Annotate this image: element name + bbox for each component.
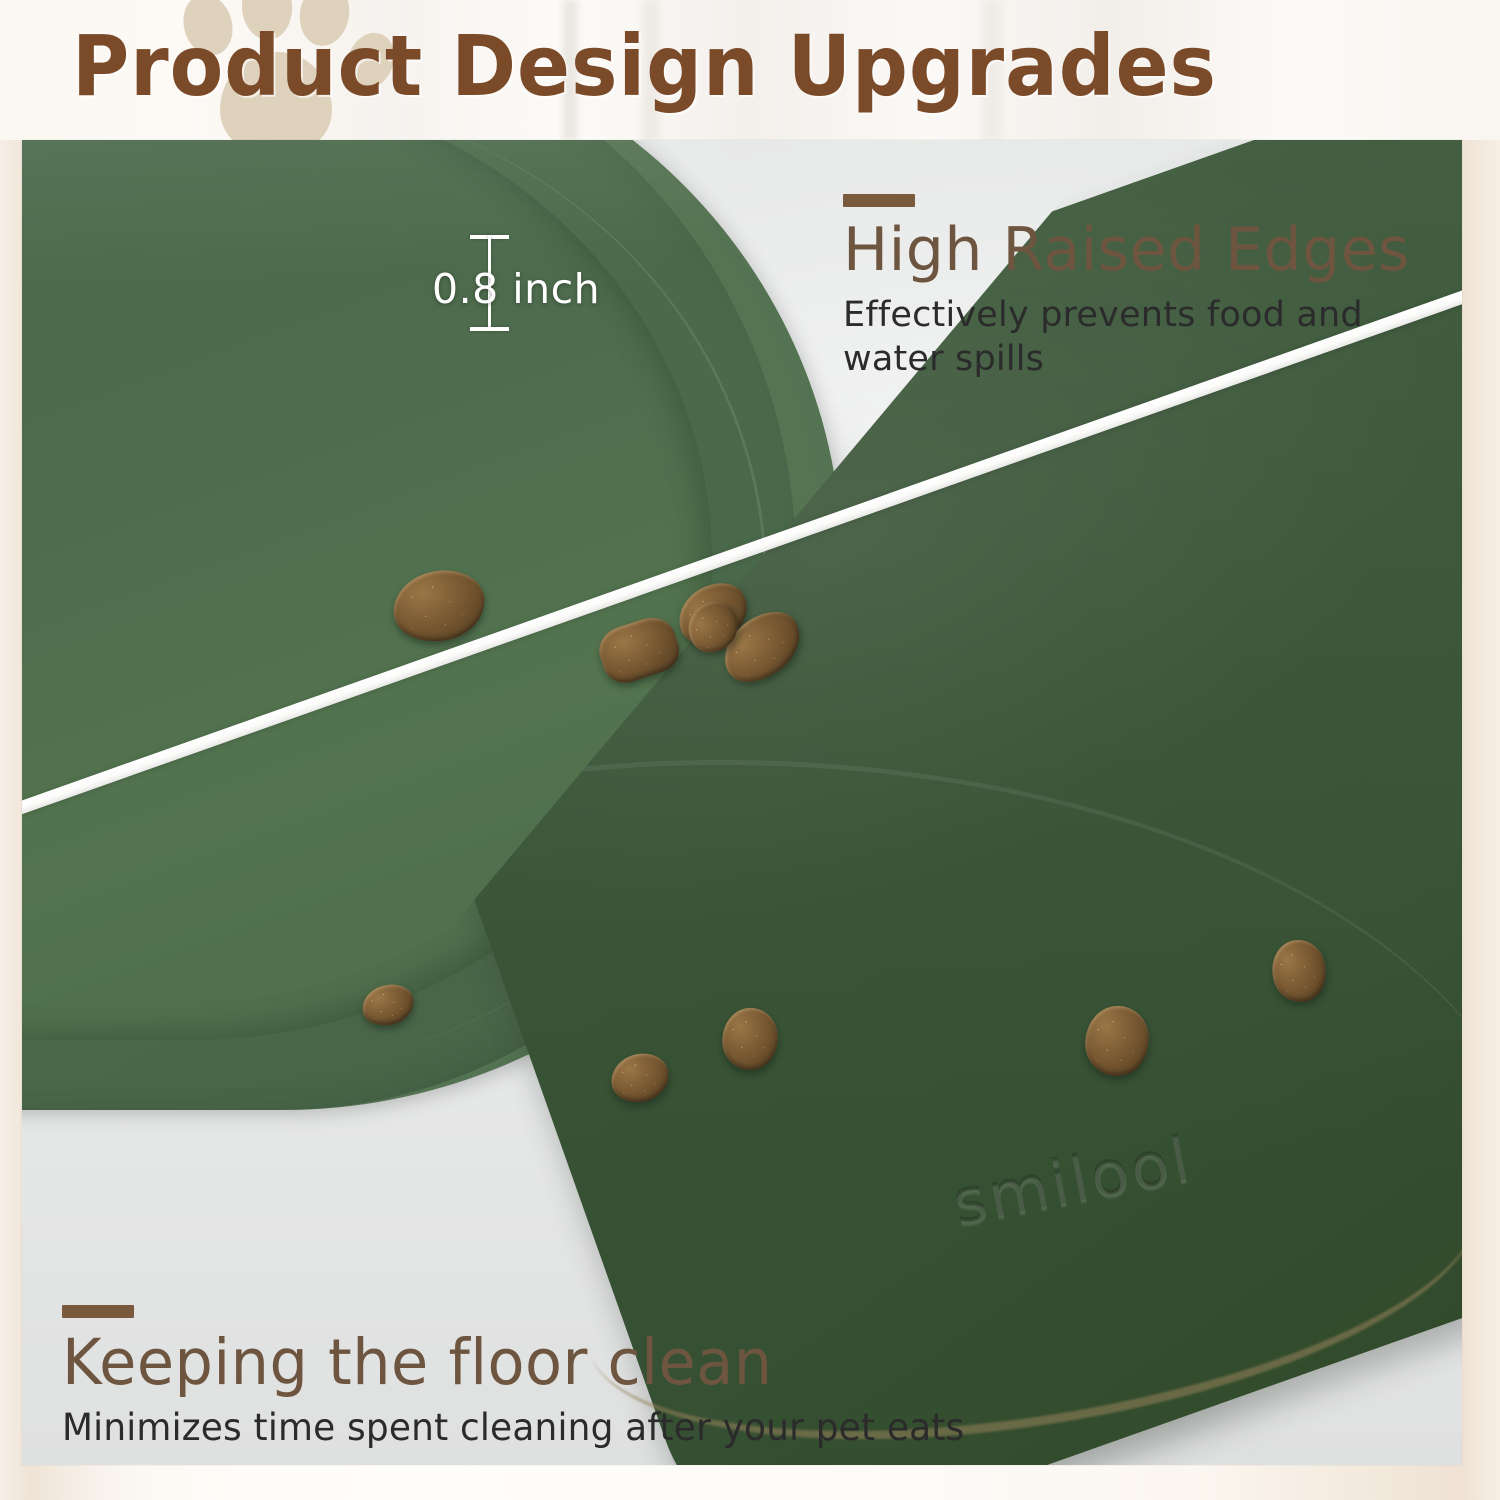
callout-title: Keeping the floor clean: [62, 1330, 1214, 1397]
header-band: Product Design Upgrades: [0, 0, 1500, 140]
page-title: Product Design Upgrades: [72, 17, 1217, 115]
accent-bar-icon: [62, 1305, 134, 1318]
callout-subtitle: Minimizes time spent cleaning after your…: [62, 1405, 1226, 1452]
callout-keeping-the-floor-clean: Keeping the floor clean Minimizes time s…: [62, 1305, 1262, 1451]
dimension-cap-bottom: [470, 327, 509, 331]
callout-high-raised-edges: High Raised Edges Effectively prevents f…: [843, 194, 1463, 381]
callout-title: High Raised Edges: [843, 219, 1463, 283]
accent-bar-icon: [843, 194, 915, 207]
dimension-label: 0.8 inch: [432, 265, 600, 313]
callout-subtitle: Effectively prevents food and water spil…: [843, 293, 1443, 381]
infographic-page: Product Design Upgrades smilool: [0, 0, 1500, 1500]
